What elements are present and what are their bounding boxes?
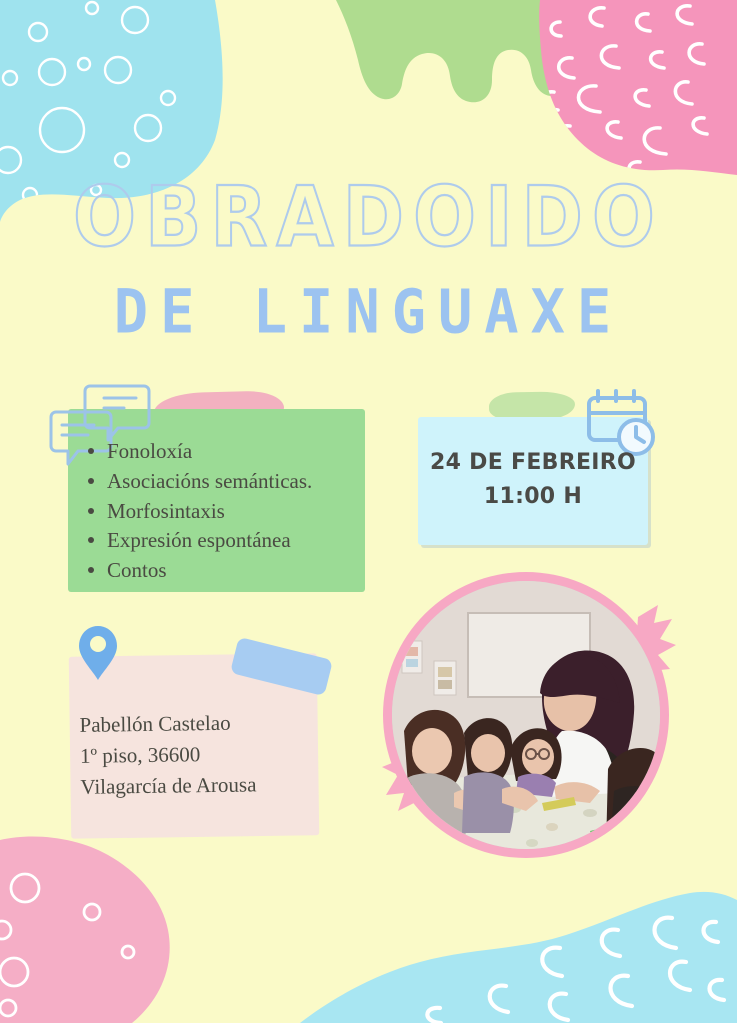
deco-pink-blob-top xyxy=(539,0,737,178)
schedule-text: 24 DE FEBREIRO 11:00 H xyxy=(418,446,648,514)
topic-item: Fonoloxía xyxy=(82,437,382,467)
topic-item: Morfosintaxis xyxy=(82,497,382,527)
poster-title: OBRADOIDO DE LINGUAXE xyxy=(0,176,737,342)
topic-item: Expresión espontánea xyxy=(82,526,382,556)
topic-item: Contos xyxy=(82,556,382,586)
location-line-1: Pabellón Castelao xyxy=(79,706,349,741)
deco-green-drip-top xyxy=(336,0,575,102)
location-text: Pabellón Castelao 1º piso, 36600 Vilagar… xyxy=(79,706,350,803)
location-line-2: 1º piso, 36600 xyxy=(80,737,350,772)
footer-logos: Asociación Tdah Salnés Centro de Estimul… xyxy=(0,908,737,1023)
schedule-time: 11:00 H xyxy=(418,480,648,514)
title-sub-text: DE LINGUAXE xyxy=(0,250,737,348)
poster-canvas: OBRADOIDO DE LINGUAXE Fonoloxía Asociaci… xyxy=(0,0,737,1023)
workshop-photo xyxy=(392,581,660,849)
topics-list: Fonoloxía Asociacións semánticas. Morfos… xyxy=(82,437,382,586)
topic-item: Asociacións semánticas. xyxy=(82,467,382,497)
map-pin-icon xyxy=(77,624,119,682)
schedule-date: 24 DE FEBREIRO xyxy=(418,446,648,480)
location-line-3: Vilagarcía de Arousa xyxy=(80,768,350,803)
title-main-text: OBRADOIDO xyxy=(0,176,737,259)
